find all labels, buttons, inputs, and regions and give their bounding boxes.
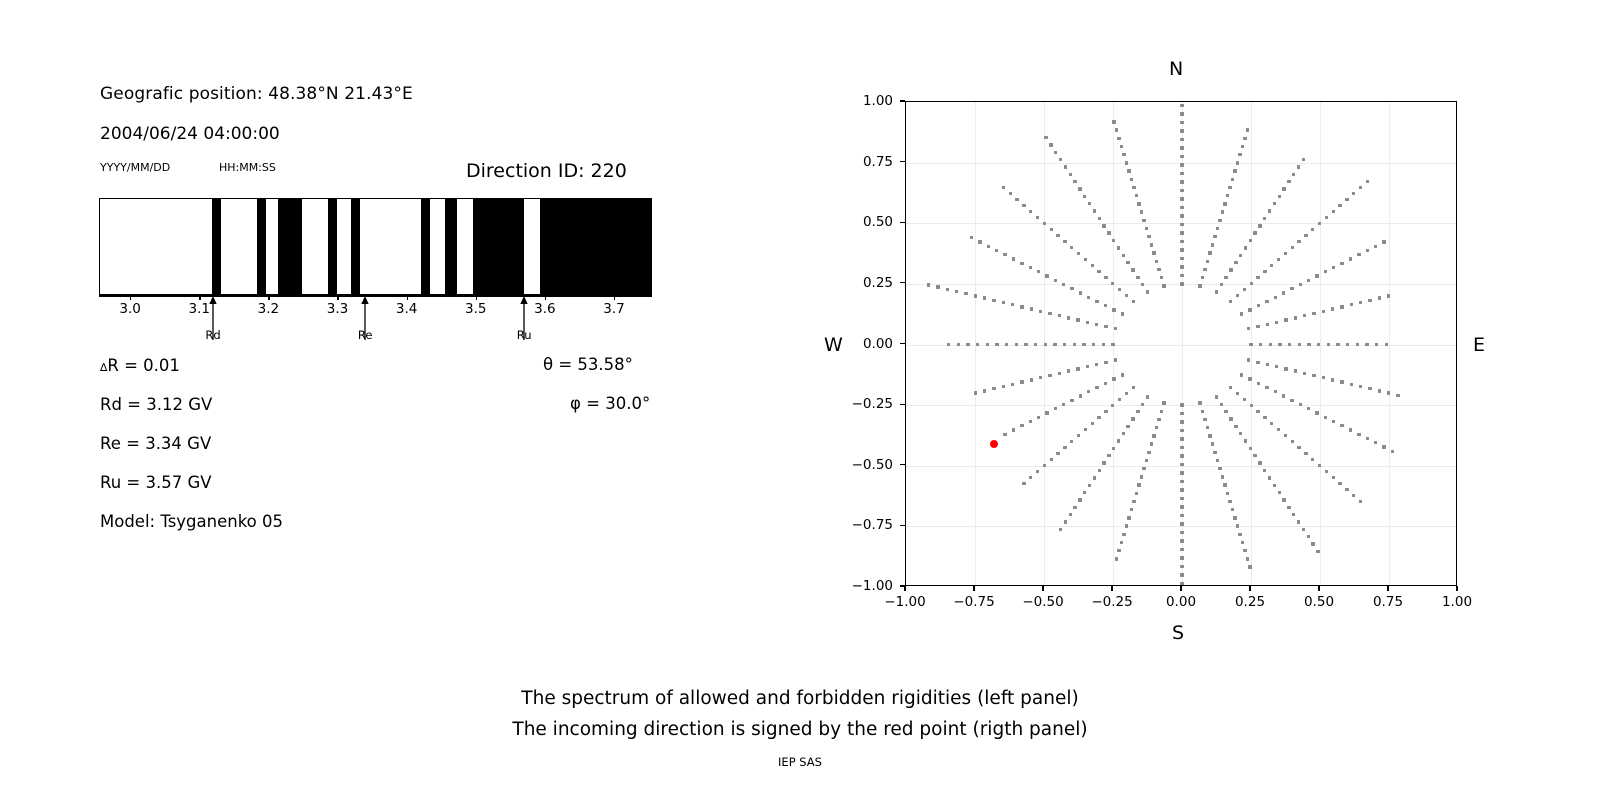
direction-dot (1146, 290, 1149, 293)
direction-dot (1206, 260, 1209, 263)
direction-dot (1239, 254, 1242, 257)
direction-dot (1336, 343, 1339, 346)
direction-dot (1243, 288, 1246, 291)
direction-dot (1155, 426, 1158, 429)
direction-dot (1220, 403, 1223, 406)
direction-dot (1284, 367, 1287, 370)
direction-dot (1340, 424, 1343, 427)
direction-dot (1278, 343, 1281, 346)
spectrum-tick (476, 295, 477, 300)
direction-dot (1218, 467, 1221, 470)
x-axis-tick (1180, 586, 1181, 591)
direction-dot (1226, 492, 1229, 495)
direction-dot (1340, 305, 1343, 308)
direction-dot (1112, 239, 1115, 242)
direction-dot (1180, 214, 1183, 217)
direction-dot (1029, 420, 1032, 423)
direction-dot (1054, 407, 1057, 410)
direction-dot (1114, 327, 1117, 330)
direction-dot (1294, 369, 1297, 372)
direction-dot (1180, 497, 1183, 500)
direction-dot (1180, 505, 1183, 508)
direction-dot (1180, 471, 1183, 474)
direction-dot (1287, 506, 1290, 509)
direction-dot (1122, 432, 1125, 435)
direction-dot (1070, 399, 1073, 402)
direction-dot (1231, 178, 1234, 181)
direction-dot (1224, 276, 1227, 279)
direction-dot (1020, 262, 1023, 265)
direction-dot (1122, 533, 1125, 536)
direction-dot (1211, 243, 1214, 246)
direction-dot (1198, 284, 1201, 287)
spectrum-tick (268, 295, 269, 300)
direction-dot (1125, 392, 1128, 395)
direction-dot (1136, 276, 1139, 279)
direction-dot (1234, 425, 1237, 428)
direction-dot (1098, 217, 1101, 220)
direction-dot (1318, 222, 1321, 225)
direction-dot (1180, 265, 1183, 268)
direction-dot (1088, 484, 1091, 487)
direction-dot (1292, 513, 1295, 516)
direction-dot (1091, 422, 1094, 425)
spectrum-tick-label: 3.0 (119, 301, 140, 317)
forbidden-band (257, 199, 266, 294)
direction-dot (1102, 224, 1105, 227)
direction-dot (1087, 390, 1090, 393)
direction-dot (1270, 422, 1273, 425)
direction-dot (1265, 386, 1268, 389)
direction-dot (1180, 121, 1183, 124)
direction-dot (1076, 367, 1079, 370)
direction-dot (1256, 361, 1259, 364)
direction-dot (1107, 231, 1110, 234)
direction-dot (1208, 251, 1211, 254)
direction-dot (1112, 377, 1115, 380)
direction-dot (1291, 246, 1294, 249)
y-axis-tick-label: −0.75 (833, 517, 893, 533)
gridline-horizontal (906, 526, 1456, 527)
direction-dot (1312, 312, 1315, 315)
direction-dot (1332, 210, 1335, 213)
y-axis-tick-label: 0.75 (833, 154, 893, 170)
direction-dot (1093, 209, 1096, 212)
y-axis-tick-label: 0.50 (833, 214, 893, 230)
direction-dot (1002, 385, 1005, 388)
direction-dot (1340, 262, 1343, 265)
x-axis-tick (1042, 586, 1043, 591)
direction-dot (1346, 343, 1349, 346)
direction-dot (1063, 343, 1066, 346)
direction-dot (1233, 169, 1236, 172)
direction-dot (1140, 210, 1143, 213)
direction-dot (1311, 542, 1314, 545)
direction-dot (1067, 316, 1070, 319)
direction-dot (1315, 411, 1318, 414)
direction-dot (1087, 296, 1090, 299)
direction-dot (1015, 198, 1018, 201)
direction-dot (1229, 268, 1232, 271)
direction-dot (1117, 549, 1120, 552)
direction-dot (1378, 389, 1381, 392)
direction-dot (1082, 343, 1085, 346)
direction-dot (1180, 138, 1183, 141)
direction-dot (1332, 476, 1335, 479)
direction-dot (1234, 261, 1237, 264)
forbidden-band (421, 199, 430, 294)
direction-dot (1274, 390, 1277, 393)
forbidden-band (445, 199, 457, 294)
y-axis-tick-label: −0.25 (833, 396, 893, 412)
y-axis-tick (900, 464, 905, 465)
direction-dot (1180, 104, 1183, 107)
direction-dot (1274, 296, 1277, 299)
direction-dot (1297, 240, 1300, 243)
incoming-direction-point (990, 440, 998, 448)
direction-dot (1120, 541, 1123, 544)
forbidden-band (278, 199, 302, 294)
spectrum-tick-label: 3.4 (396, 301, 417, 317)
direction-dot (1112, 447, 1115, 450)
direction-map-plot-area (905, 101, 1457, 586)
direction-dot (1382, 445, 1385, 448)
direction-dot (1213, 451, 1216, 454)
direction-dot (1213, 235, 1216, 238)
direction-dot (1243, 549, 1246, 552)
direction-dot (1049, 143, 1052, 146)
direction-dot (1097, 416, 1100, 419)
direction-dot (1088, 202, 1091, 205)
spectrum-tick (199, 295, 200, 300)
direction-dot (1236, 294, 1239, 297)
direction-dot (1316, 550, 1319, 553)
spectrum-tick (614, 295, 615, 300)
direction-dot (1011, 303, 1014, 306)
direction-dot (1211, 442, 1214, 445)
direction-dot (1095, 386, 1098, 389)
spectrum-tick-label: 3.2 (258, 301, 279, 317)
param-delta-r-value: R = 0.01 (107, 356, 180, 375)
direction-dot (1203, 418, 1206, 421)
direction-dot (1157, 268, 1160, 271)
direction-dot (1180, 582, 1183, 585)
direction-dot (1056, 234, 1059, 237)
direction-dot (1278, 491, 1281, 494)
direction-dot (1112, 120, 1115, 123)
direction-dot (1311, 458, 1314, 461)
direction-dot (1246, 128, 1249, 131)
direction-id-text: Direction ID: 220 (466, 160, 627, 182)
param-rd: Rd = 3.12 GV (100, 395, 212, 414)
direction-dot (1229, 300, 1232, 303)
direction-dot (1257, 382, 1260, 385)
direction-dot (1324, 270, 1327, 273)
direction-dot (1063, 446, 1066, 449)
direction-dot (1307, 279, 1310, 282)
direction-dot (1249, 343, 1252, 346)
direction-dot (1292, 173, 1295, 176)
direction-dot (1359, 500, 1362, 503)
y-axis-tick (900, 282, 905, 283)
direction-dot (1396, 394, 1399, 397)
direction-dot (1257, 304, 1260, 307)
direction-dot (1325, 470, 1328, 473)
direction-dot (1036, 470, 1039, 473)
direction-dot (1107, 454, 1110, 457)
direction-dot (1368, 387, 1371, 390)
direction-dot (1043, 222, 1046, 225)
direction-dot (1302, 158, 1305, 161)
direction-dot (1044, 136, 1047, 139)
direction-dot (1076, 318, 1079, 321)
x-axis-tick (1456, 586, 1457, 591)
direction-dot (1030, 307, 1033, 310)
direction-dot (1228, 186, 1231, 189)
y-axis-tick (900, 525, 905, 526)
direction-dot (1250, 282, 1253, 285)
direction-dot (1299, 283, 1302, 286)
direction-dot (1243, 398, 1246, 401)
direction-dot (1141, 403, 1144, 406)
direction-dot (1352, 192, 1355, 195)
direction-dot (1118, 398, 1121, 401)
direction-dot (1069, 513, 1072, 516)
direction-dot (1102, 343, 1105, 346)
direction-dot (1180, 189, 1183, 192)
direction-dot (1248, 308, 1251, 311)
direction-dot (1104, 382, 1107, 385)
direction-dot (1180, 163, 1183, 166)
direction-dot (1132, 500, 1135, 503)
direction-dot (1005, 343, 1008, 346)
direction-dot (1095, 300, 1098, 303)
forbidden-band (212, 199, 221, 294)
direction-dot (1282, 394, 1285, 397)
direction-dot (1315, 274, 1318, 277)
direction-dot (1277, 428, 1280, 431)
direction-dot (1121, 312, 1124, 315)
direction-dot (1115, 557, 1118, 560)
direction-dot (1011, 383, 1014, 386)
direction-dot (1083, 195, 1086, 198)
direction-dot (1290, 399, 1293, 402)
direction-dot (1132, 186, 1135, 189)
y-axis-tick-label: 0.25 (833, 275, 893, 291)
direction-dot (1063, 240, 1066, 243)
direction-dot (1238, 153, 1241, 156)
param-delta-r: ∆R = 0.01 (100, 356, 180, 375)
direction-dot (1208, 434, 1211, 437)
direction-dot (1122, 153, 1125, 156)
direction-dot (1282, 187, 1285, 190)
x-axis-tick-label: 0.25 (1235, 594, 1265, 610)
rigidity-spectrum-bar (99, 198, 652, 295)
direction-dot (1325, 216, 1328, 219)
direction-dot (1218, 219, 1221, 222)
direction-dot (1365, 343, 1368, 346)
direction-dot (1206, 426, 1209, 429)
direction-dot (1263, 270, 1266, 273)
direction-dot (1387, 391, 1390, 394)
direction-dot (1117, 137, 1120, 140)
direction-dot (1180, 223, 1183, 226)
x-axis-tick (973, 586, 974, 591)
direction-dot (1287, 180, 1290, 183)
gridline-vertical (1320, 102, 1321, 585)
direction-dot (1375, 343, 1378, 346)
direction-dot (1056, 452, 1059, 455)
direction-dot (1073, 506, 1076, 509)
direction-dot (1258, 224, 1261, 227)
x-axis-tick (904, 586, 905, 591)
direction-dot (1273, 202, 1276, 205)
direction-dot (1350, 383, 1353, 386)
direction-dot (1366, 180, 1369, 183)
direction-dot (1180, 197, 1183, 200)
direction-dot (1340, 380, 1343, 383)
direction-dot (1256, 410, 1259, 413)
spectrum-tick-label: 3.3 (327, 301, 348, 317)
direction-dot (1357, 253, 1360, 256)
direction-dot (1180, 446, 1183, 449)
direction-dot (983, 296, 986, 299)
direction-dot (1221, 475, 1224, 478)
direction-dot (1022, 482, 1025, 485)
direction-dot (1045, 274, 1048, 277)
direction-dot (1064, 165, 1067, 168)
direction-dot (1037, 416, 1040, 419)
direction-dot (992, 387, 995, 390)
direction-dot (1253, 454, 1256, 457)
direction-dot (1368, 299, 1371, 302)
direction-dot (1322, 310, 1325, 313)
direction-dot (1352, 494, 1355, 497)
date-format-hint: YYYY/MM/DD (100, 161, 170, 174)
direction-dot (1297, 520, 1300, 523)
direction-dot (1137, 483, 1140, 486)
direction-dot (1263, 217, 1266, 220)
direction-dot (1307, 407, 1310, 410)
direction-dot (1249, 447, 1252, 450)
direction-dot (992, 299, 995, 302)
direction-dot (1127, 169, 1130, 172)
direction-dot (1180, 412, 1183, 415)
direction-dot (1180, 522, 1183, 525)
direction-dot (1180, 573, 1183, 576)
param-model: Model: Tsyganenko 05 (100, 512, 283, 531)
direction-dot (1248, 377, 1251, 380)
direction-dot (987, 245, 990, 248)
direction-dot (1268, 476, 1271, 479)
direction-dot (1152, 251, 1155, 254)
direction-dot (1331, 307, 1334, 310)
direction-dot (1357, 433, 1360, 436)
direction-dot (1266, 363, 1269, 366)
direction-dot (1247, 358, 1250, 361)
direction-dot (1009, 192, 1012, 195)
direction-dot (1290, 287, 1293, 290)
direction-dot (1302, 528, 1305, 531)
direction-dot (1223, 202, 1226, 205)
y-axis-tick (900, 343, 905, 344)
direction-dot (1180, 274, 1183, 277)
direction-dot (1022, 204, 1025, 207)
direction-dot (1036, 216, 1039, 219)
direction-dot (976, 343, 979, 346)
direction-dot (1268, 209, 1271, 212)
direction-dot (1073, 180, 1076, 183)
direction-dot (1053, 343, 1056, 346)
direction-dot (1067, 369, 1070, 372)
direction-dot (1162, 284, 1165, 287)
x-axis-tick-label: −0.50 (1022, 594, 1063, 610)
footer-credit: IEP SAS (0, 755, 1600, 769)
direction-dot (1228, 500, 1231, 503)
direction-dot (1070, 246, 1073, 249)
direction-dot (1180, 548, 1183, 551)
direction-dot (1125, 524, 1128, 527)
direction-dot (1297, 165, 1300, 168)
direction-dot (1034, 343, 1037, 346)
direction-dot (1259, 343, 1262, 346)
direction-dot (1012, 428, 1015, 431)
direction-dot (1243, 137, 1246, 140)
direction-dot (1241, 541, 1244, 544)
direction-dot (1048, 312, 1051, 315)
direction-dot (1366, 437, 1369, 440)
direction-dot (936, 285, 939, 288)
direction-dot (1145, 227, 1148, 230)
direction-dot (1084, 258, 1087, 261)
direction-dot (1030, 378, 1033, 381)
direction-dot (1311, 228, 1314, 231)
x-axis-tick-label: 1.00 (1442, 594, 1472, 610)
direction-dot (1238, 533, 1241, 536)
direction-dot (1275, 365, 1278, 368)
direction-dot (983, 389, 986, 392)
forbidden-band (351, 199, 360, 294)
direction-dot (1086, 321, 1089, 324)
direction-dot (1216, 227, 1219, 230)
direction-dot (970, 236, 973, 239)
rigidity-marker-label-ru: Ru (517, 328, 532, 342)
direction-dot (1345, 198, 1348, 201)
y-axis-tick (900, 100, 905, 101)
rigidity-marker-label-rd: Rd (205, 328, 220, 342)
direction-dot (974, 391, 977, 394)
direction-dot (1062, 403, 1065, 406)
direction-dot (1359, 385, 1362, 388)
direction-dot (1003, 253, 1006, 256)
direction-dot (1104, 276, 1107, 279)
direction-dot (1374, 245, 1377, 248)
direction-dot (1115, 128, 1118, 131)
direction-dot (1078, 187, 1081, 190)
direction-dot (1277, 258, 1280, 261)
direction-dot (1093, 476, 1096, 479)
rigidity-marker-label-re: Re (358, 328, 373, 342)
direction-dot (1391, 450, 1394, 453)
direction-dot (1029, 210, 1032, 213)
direction-dot (1345, 488, 1348, 491)
direction-dot (1079, 291, 1082, 294)
direction-dot (1114, 358, 1117, 361)
direction-dot (1284, 252, 1287, 255)
direction-dot (1359, 186, 1362, 189)
direction-dot (1146, 395, 1149, 398)
direction-dot (1054, 151, 1057, 154)
